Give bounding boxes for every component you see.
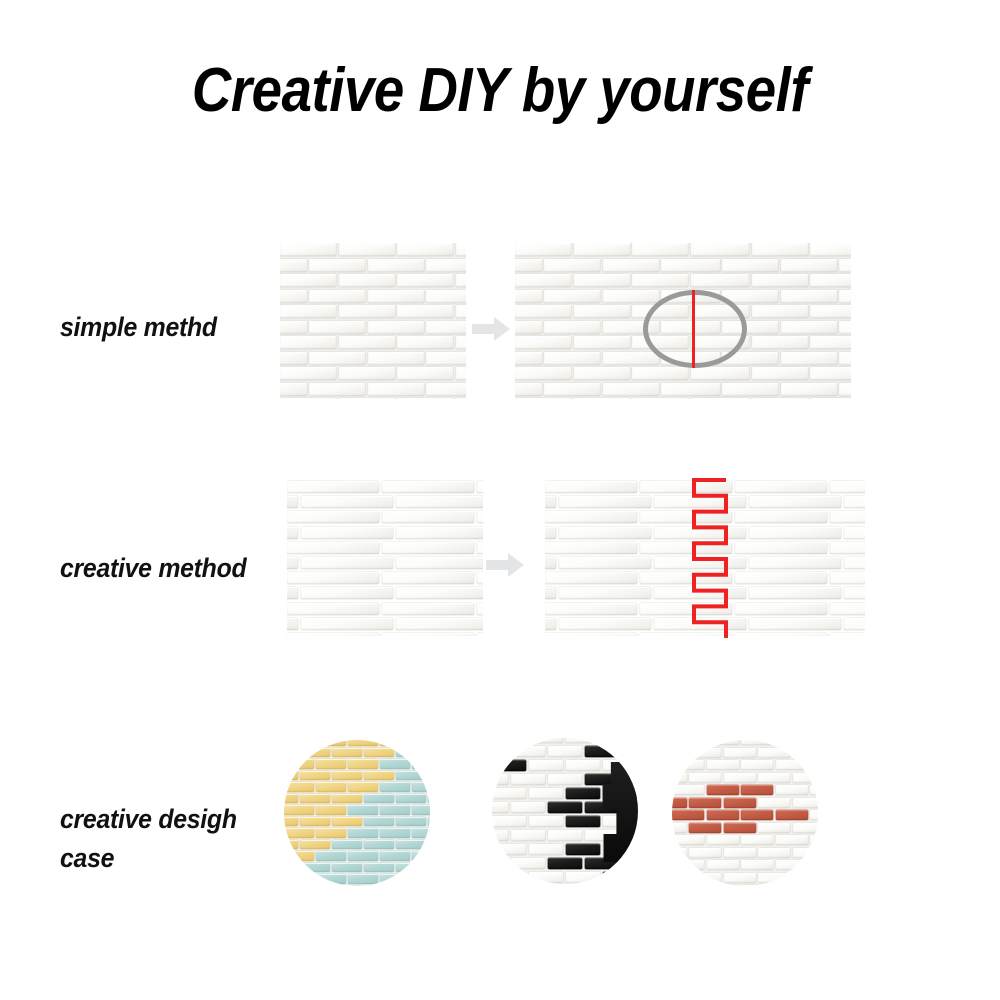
brick [545, 633, 637, 636]
brick [559, 557, 651, 569]
brick [515, 321, 542, 334]
brick [492, 802, 508, 813]
brick [810, 785, 818, 795]
brick [693, 305, 749, 318]
brick [844, 496, 865, 508]
brick [844, 527, 865, 539]
brick [477, 633, 483, 636]
brick [741, 785, 773, 795]
brick [548, 830, 582, 841]
brick [544, 290, 600, 303]
design-case-yellow-teal [284, 740, 430, 886]
brick [735, 542, 827, 554]
brick [839, 352, 851, 365]
brick [724, 798, 756, 808]
brick [287, 481, 379, 493]
brick [689, 773, 721, 783]
brick [348, 740, 378, 746]
brick [749, 618, 841, 630]
brick [396, 557, 483, 569]
brick [368, 290, 424, 303]
brick [456, 367, 467, 380]
brick [640, 572, 732, 584]
brick [689, 873, 721, 883]
brick [428, 886, 430, 887]
brick [776, 860, 808, 870]
brick [380, 828, 410, 838]
brick [397, 336, 453, 349]
brick [544, 352, 600, 365]
brick [574, 336, 630, 349]
brick [566, 738, 600, 743]
brick [758, 773, 790, 783]
brick [511, 746, 545, 757]
brick [810, 367, 851, 380]
brick [428, 840, 430, 850]
brick [368, 259, 424, 272]
brick [544, 321, 600, 334]
brick [300, 886, 330, 887]
brick [559, 587, 651, 599]
brick [515, 305, 571, 318]
brick [348, 759, 378, 769]
brick [477, 511, 483, 523]
brick [515, 367, 571, 380]
brick [661, 290, 693, 303]
brick [364, 840, 394, 850]
brick [316, 851, 346, 861]
brick [397, 398, 453, 399]
brick [793, 748, 818, 758]
brick [316, 805, 346, 815]
brick [724, 873, 756, 883]
brick [654, 618, 746, 630]
brick [301, 618, 393, 630]
brick [654, 496, 746, 508]
brick [566, 872, 600, 883]
brick [284, 851, 314, 861]
brick [515, 383, 542, 396]
brick [364, 886, 394, 887]
brick [603, 321, 659, 334]
brick [287, 527, 298, 539]
brick [548, 746, 582, 757]
brick [661, 352, 693, 365]
brick [776, 835, 808, 845]
brick [364, 817, 394, 827]
brick [511, 830, 545, 841]
brick [722, 321, 778, 334]
brick [559, 618, 651, 630]
brick [603, 872, 637, 883]
brick [672, 798, 687, 808]
brick [758, 798, 790, 808]
brick [380, 782, 410, 792]
brick [672, 860, 704, 870]
brick [632, 274, 688, 287]
brick [758, 848, 790, 858]
brick [529, 738, 563, 743]
brick [300, 771, 330, 781]
brick [693, 259, 720, 272]
brick [603, 738, 637, 743]
brick [284, 740, 314, 746]
brick [477, 542, 483, 554]
brick [396, 496, 483, 508]
brick [515, 274, 571, 287]
brick [412, 828, 430, 838]
brick [776, 740, 808, 745]
brick [529, 872, 563, 883]
brick [280, 336, 336, 349]
brick [749, 587, 841, 599]
brick [396, 748, 426, 758]
brick [810, 760, 818, 770]
brick [515, 352, 542, 365]
brick [632, 305, 688, 318]
brick [707, 740, 739, 745]
brick [810, 885, 818, 886]
brick [284, 748, 298, 758]
brick [689, 798, 721, 808]
brick [284, 863, 298, 873]
brick-panel-creative-before [287, 480, 483, 636]
brick [426, 352, 466, 365]
brick [793, 798, 818, 808]
brick [741, 760, 773, 770]
brick [545, 603, 637, 615]
brick [280, 383, 307, 396]
brick [287, 603, 379, 615]
brick [382, 572, 474, 584]
brick [332, 840, 362, 850]
right-arrow-icon [472, 315, 512, 343]
brick [839, 259, 851, 272]
brick [492, 760, 526, 771]
brick [707, 885, 739, 886]
brick [300, 794, 330, 804]
brick [364, 771, 394, 781]
brick [632, 367, 688, 380]
brick [316, 828, 346, 838]
brick [810, 835, 818, 845]
brick [339, 243, 395, 256]
page-title: Creative DIY by yourself [60, 58, 940, 123]
brick [752, 274, 808, 287]
brick [396, 817, 426, 827]
brick [749, 496, 841, 508]
brick [672, 785, 704, 795]
brick [397, 243, 453, 256]
brick [545, 542, 637, 554]
brick [300, 863, 330, 873]
brick [574, 243, 630, 256]
brick [654, 587, 746, 599]
brick [672, 835, 704, 845]
brick [632, 398, 688, 399]
brick [545, 511, 637, 523]
brick [566, 760, 600, 771]
brick [640, 633, 732, 636]
brick [284, 874, 314, 884]
brick [574, 274, 630, 287]
brick [632, 243, 688, 256]
brick [839, 321, 851, 334]
brick [301, 587, 393, 599]
brick [693, 274, 749, 287]
brick [672, 740, 704, 745]
brick [839, 290, 851, 303]
brick [544, 383, 600, 396]
brick [693, 367, 749, 380]
brick [844, 618, 865, 630]
brick [776, 810, 808, 820]
brick [368, 383, 424, 396]
brick [566, 788, 600, 799]
brick [492, 816, 526, 827]
brick [735, 572, 827, 584]
brick [830, 542, 865, 554]
brick [548, 802, 582, 813]
brick [428, 748, 430, 758]
brick [603, 290, 659, 303]
brick [492, 844, 526, 855]
brick [284, 805, 314, 815]
brick [752, 336, 808, 349]
case-brick-field [672, 740, 818, 886]
brick [689, 823, 721, 833]
case-brick-field [492, 738, 638, 884]
brick-field [287, 480, 483, 636]
brick [810, 810, 818, 820]
brick [603, 383, 659, 396]
brick [380, 759, 410, 769]
brick [672, 823, 687, 833]
brick [280, 352, 307, 365]
brick [316, 759, 346, 769]
brick [492, 738, 526, 743]
brick [456, 305, 467, 318]
brick-field [545, 480, 865, 636]
brick [456, 398, 467, 399]
brick-field-left [515, 243, 851, 399]
brick [382, 542, 474, 554]
brick [793, 873, 818, 883]
brick [332, 771, 362, 781]
brick [810, 398, 851, 399]
brick [284, 828, 314, 838]
brick [545, 481, 637, 493]
brick [830, 572, 865, 584]
brick [515, 290, 542, 303]
brick [640, 481, 732, 493]
brick [830, 481, 865, 493]
brick [722, 383, 778, 396]
brick [830, 603, 865, 615]
brick [693, 321, 720, 334]
brick [529, 760, 563, 771]
brick [348, 828, 378, 838]
brick [339, 336, 395, 349]
brick [741, 810, 773, 820]
brick [412, 740, 430, 746]
brick [810, 243, 851, 256]
brick [735, 633, 827, 636]
brick [654, 557, 746, 569]
brick [300, 748, 330, 758]
brick [693, 383, 720, 396]
brick [781, 290, 837, 303]
brick [287, 587, 298, 599]
brick [574, 367, 630, 380]
brick [529, 816, 563, 827]
brick [810, 860, 818, 870]
brick [661, 259, 693, 272]
brick [758, 748, 790, 758]
brick [396, 587, 483, 599]
brick [456, 243, 467, 256]
brick [544, 259, 600, 272]
brick [511, 802, 545, 813]
brick [309, 352, 365, 365]
brick [574, 305, 630, 318]
design-case-black-white [492, 738, 638, 884]
brick [456, 274, 467, 287]
brick [515, 243, 571, 256]
brick [412, 851, 430, 861]
brick [724, 848, 756, 858]
brick [492, 746, 508, 757]
brick [380, 740, 410, 746]
right-arrow-icon [486, 551, 526, 579]
brick [574, 398, 630, 399]
brick [348, 874, 378, 884]
brick [287, 496, 298, 508]
brick [339, 398, 395, 399]
brick [287, 542, 379, 554]
brick [348, 851, 378, 861]
brick [301, 557, 393, 569]
brick [672, 748, 687, 758]
brick [776, 785, 808, 795]
brick [301, 496, 393, 508]
brick [661, 321, 693, 334]
brick [492, 774, 508, 785]
brick [364, 863, 394, 873]
brick [672, 773, 687, 783]
brick [741, 835, 773, 845]
brick [741, 860, 773, 870]
brick [707, 785, 739, 795]
row-label-creative-method: creative method [60, 549, 246, 588]
brick [396, 840, 426, 850]
brick [545, 496, 556, 508]
brick [284, 782, 314, 792]
brick [839, 383, 851, 396]
brick [722, 290, 778, 303]
brick [752, 243, 808, 256]
brick [689, 848, 721, 858]
brick [781, 383, 837, 396]
brick [287, 572, 379, 584]
brick [566, 816, 600, 827]
brick [396, 863, 426, 873]
brick [382, 511, 474, 523]
brick [511, 774, 545, 785]
brick [830, 511, 865, 523]
brick [640, 542, 732, 554]
brick [397, 274, 453, 287]
brick [603, 259, 659, 272]
brick [640, 511, 732, 523]
brick [456, 336, 467, 349]
brick [287, 557, 298, 569]
brick [428, 794, 430, 804]
brick [515, 336, 571, 349]
brick [368, 321, 424, 334]
brick [280, 367, 336, 380]
brick-panel-simple-before [280, 243, 466, 399]
brick [810, 305, 851, 318]
brick [545, 618, 556, 630]
brick [280, 398, 336, 399]
brick [707, 810, 739, 820]
brick [781, 352, 837, 365]
brick [566, 844, 600, 855]
panel-sheet-left [515, 243, 693, 399]
brick-panel-creative-after [545, 480, 865, 636]
brick [722, 259, 778, 272]
brick [781, 259, 837, 272]
brick [396, 886, 426, 887]
brick [492, 858, 508, 869]
brick [781, 321, 837, 334]
brick [301, 527, 393, 539]
brick [529, 788, 563, 799]
brick [300, 840, 330, 850]
brick [515, 259, 542, 272]
brick [693, 290, 720, 303]
brick [511, 858, 545, 869]
brick [749, 557, 841, 569]
brick [287, 511, 379, 523]
brick [280, 321, 307, 334]
brick [332, 863, 362, 873]
brick [309, 259, 365, 272]
brick [412, 759, 430, 769]
brick [380, 874, 410, 884]
brick [287, 633, 379, 636]
brick [309, 290, 365, 303]
brick [300, 817, 330, 827]
brick [428, 771, 430, 781]
brick [654, 527, 746, 539]
brick [426, 259, 466, 272]
brick [776, 760, 808, 770]
brick [396, 771, 426, 781]
brick [280, 305, 336, 318]
brick [332, 748, 362, 758]
brick [559, 496, 651, 508]
brick [284, 886, 298, 887]
brick [758, 823, 790, 833]
brick [707, 835, 739, 845]
brick [559, 527, 651, 539]
brick [735, 603, 827, 615]
brick [382, 603, 474, 615]
brick [428, 863, 430, 873]
brick [382, 633, 474, 636]
